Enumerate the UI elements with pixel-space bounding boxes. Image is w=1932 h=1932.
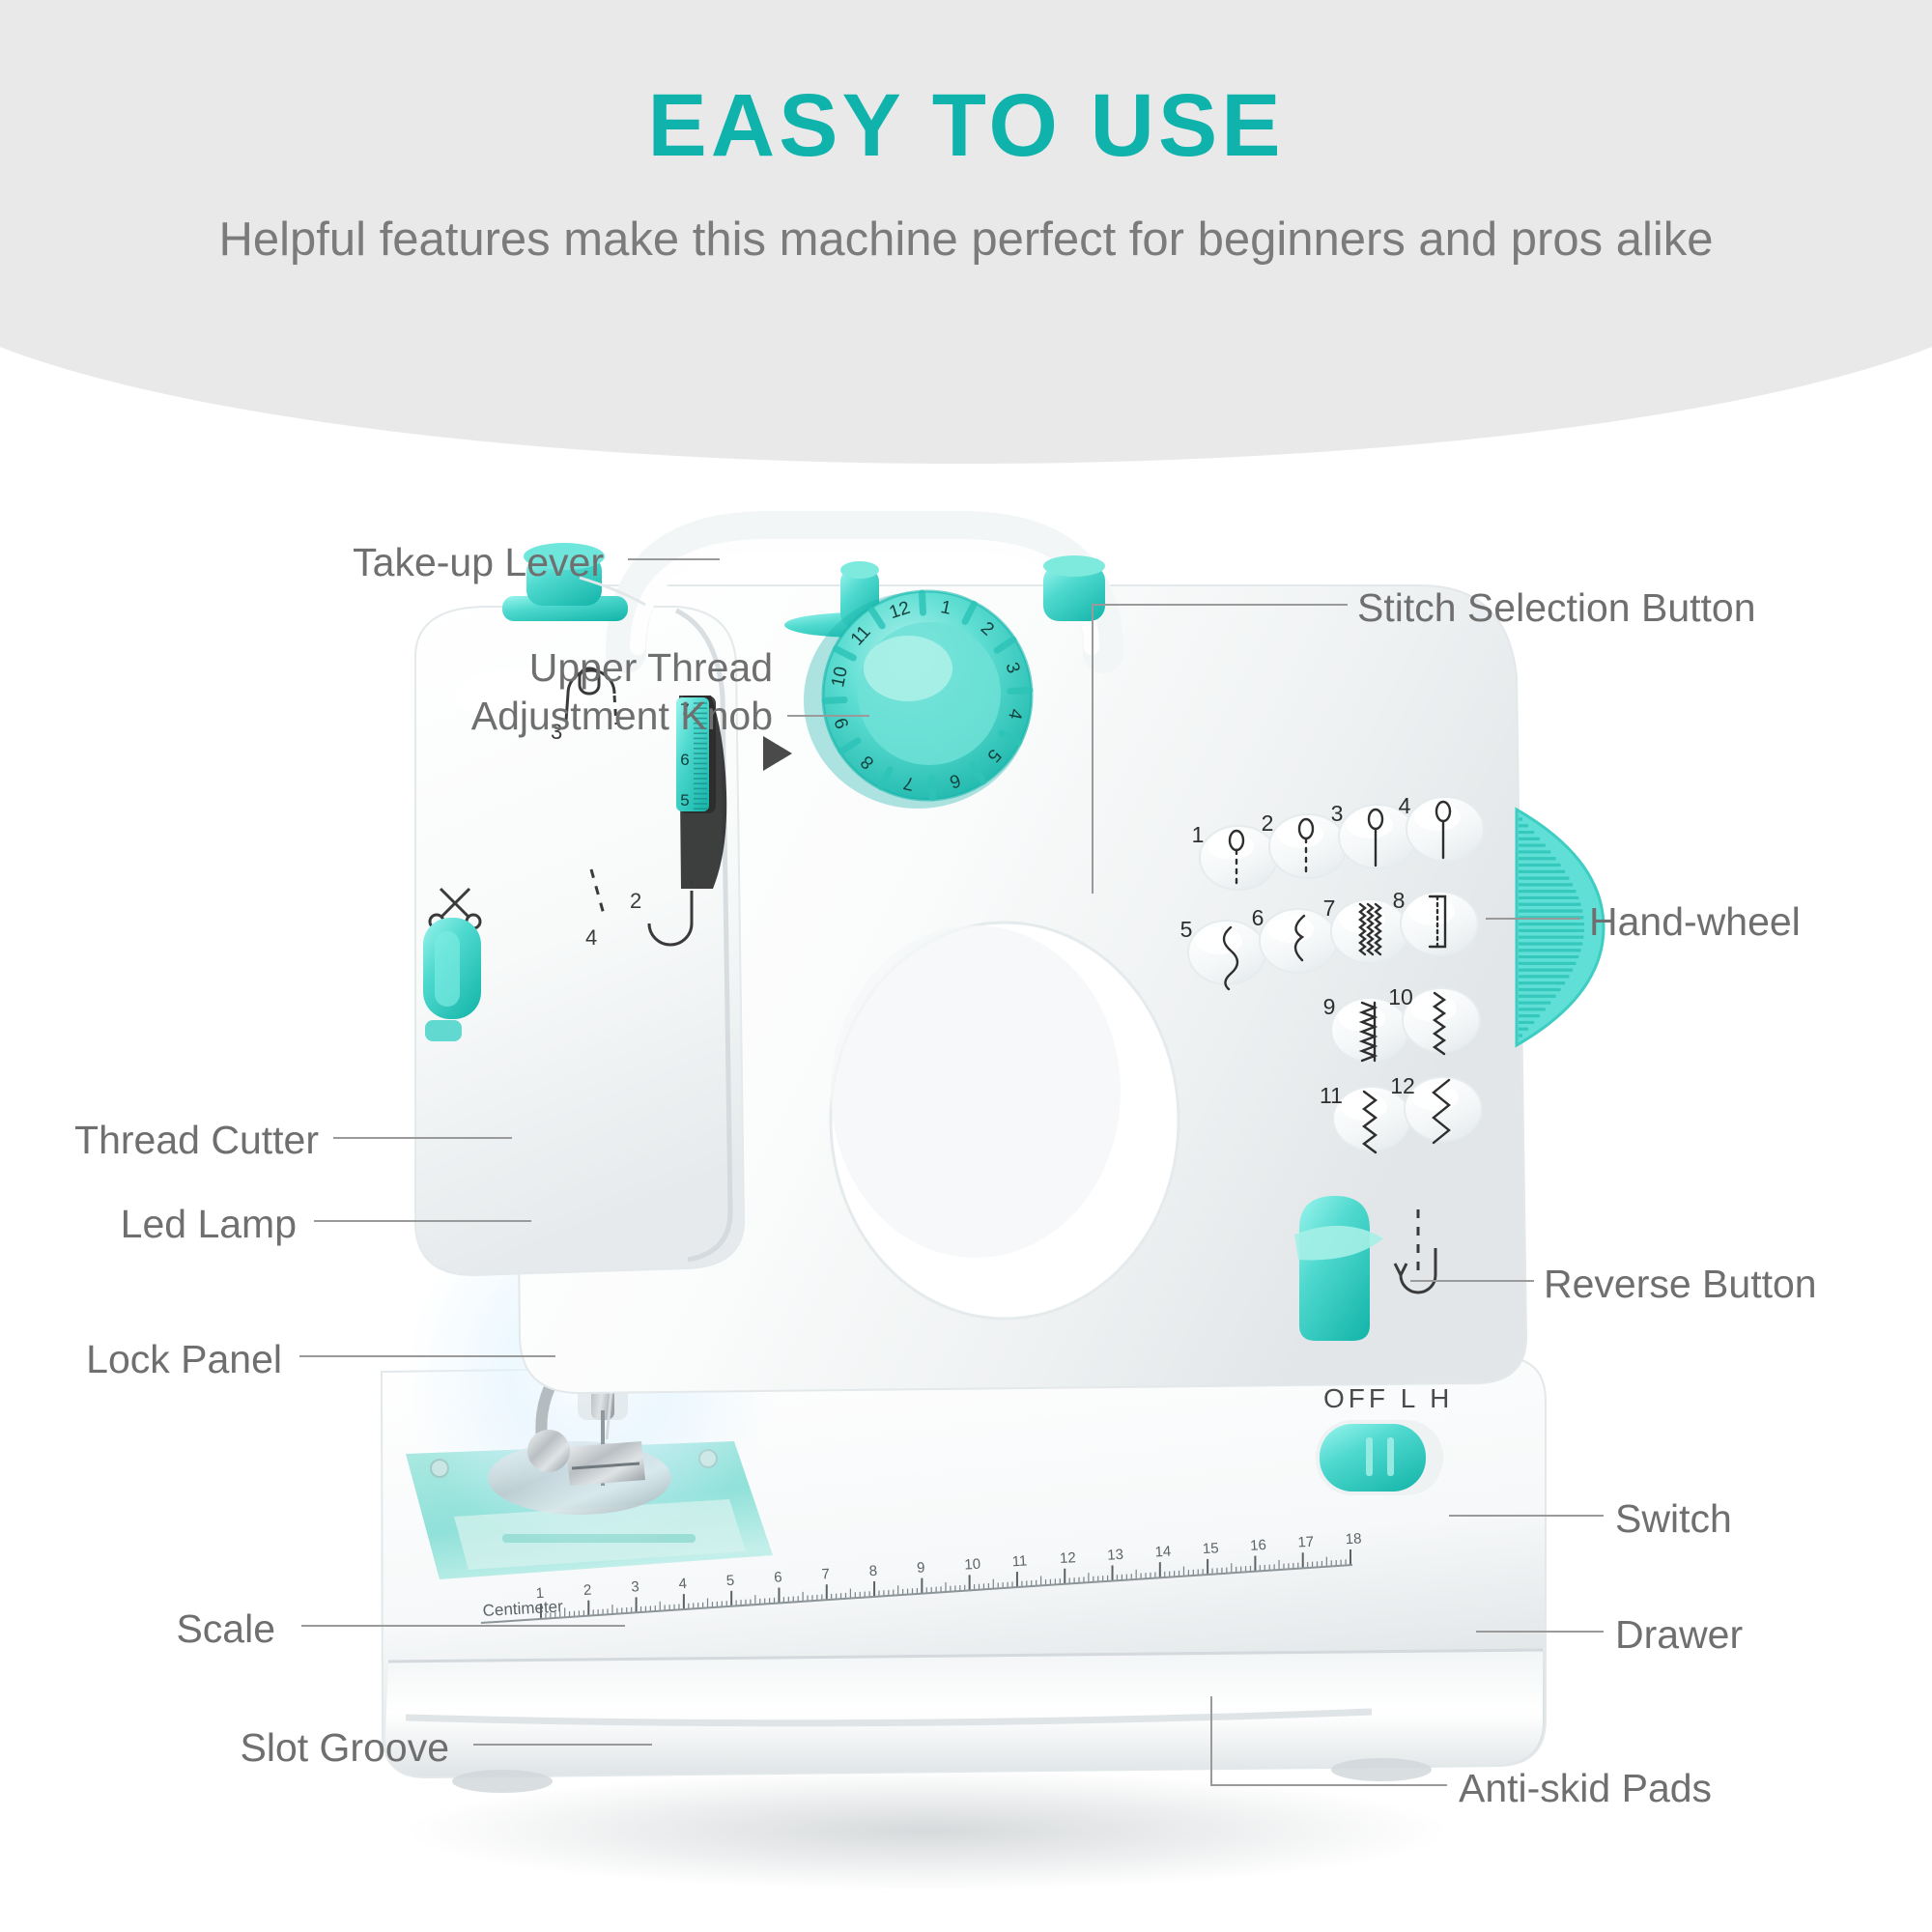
svg-text:11: 11 [1011, 1552, 1028, 1570]
page-subtitle: Helpful features make this machine perfe… [0, 209, 1932, 271]
leader-stitch-selection-h [1092, 604, 1348, 606]
svg-text:2: 2 [630, 889, 641, 913]
leader-lock-panel [299, 1355, 555, 1357]
svg-text:10: 10 [1388, 984, 1413, 1009]
callout-scale: Scale [176, 1605, 275, 1653]
svg-text:3: 3 [631, 1578, 639, 1595]
svg-text:6: 6 [774, 1569, 782, 1585]
svg-text:2: 2 [1262, 810, 1274, 836]
callout-led-lamp: Led Lamp [121, 1200, 297, 1248]
leader-stitch-selection-v [1092, 604, 1094, 894]
svg-text:8: 8 [1393, 888, 1406, 913]
svg-text:7: 7 [821, 1566, 830, 1582]
leader-upper-thread-knob [787, 715, 869, 717]
leader-led-lamp [314, 1220, 531, 1222]
svg-text:11: 11 [1320, 1083, 1343, 1108]
svg-text:16: 16 [1250, 1537, 1267, 1554]
svg-text:8: 8 [868, 1563, 877, 1579]
callout-thread-cutter: Thread Cutter [74, 1116, 319, 1164]
callout-anti-skid-pads: Anti-skid Pads [1459, 1764, 1712, 1812]
callout-switch: Switch [1615, 1494, 1732, 1543]
svg-text:12: 12 [1060, 1549, 1077, 1567]
leader-anti-skid-h [1210, 1784, 1447, 1786]
svg-text:4: 4 [1399, 793, 1411, 818]
anti-skid-pad-right [1331, 1758, 1432, 1781]
svg-text:3: 3 [1331, 801, 1344, 826]
page-title: EASY TO USE [0, 81, 1932, 170]
callout-reverse-button: Reverse Button [1544, 1260, 1817, 1308]
callout-hand-wheel: Hand-wheel [1589, 897, 1801, 946]
svg-text:14: 14 [1154, 1544, 1172, 1561]
leader-thread-cutter [333, 1137, 512, 1139]
svg-text:5: 5 [725, 1573, 734, 1589]
svg-text:17: 17 [1297, 1534, 1315, 1551]
leader-reverse-button [1410, 1280, 1534, 1282]
ground-shadow [406, 1771, 1449, 1890]
header-text-block: EASY TO USE Helpful features make this m… [0, 0, 1932, 271]
product-photo: Centimeter 123456789101112131415161718 [0, 406, 1932, 1932]
svg-text:5: 5 [1180, 917, 1193, 942]
callout-slot-groove: Slot Groove [241, 1723, 450, 1772]
bobbin-winder[interactable] [1043, 555, 1105, 621]
anti-skid-pad-left [452, 1770, 553, 1793]
svg-text:4: 4 [585, 925, 597, 950]
callout-stitch-selection-button: Stitch Selection Button [1357, 583, 1756, 632]
leader-slot-groove [473, 1744, 652, 1746]
svg-text:10: 10 [964, 1556, 981, 1574]
svg-text:18: 18 [1345, 1530, 1362, 1548]
svg-text:12: 12 [1390, 1073, 1415, 1098]
svg-text:10: 10 [828, 665, 852, 689]
svg-text:5: 5 [680, 791, 689, 810]
svg-text:9: 9 [1323, 994, 1336, 1019]
callout-lock-panel: Lock Panel [86, 1335, 282, 1383]
svg-text:1: 1 [535, 1585, 544, 1602]
svg-text:13: 13 [1107, 1547, 1124, 1564]
leader-take-up-lever [628, 558, 720, 560]
leader-drawer [1476, 1631, 1604, 1633]
svg-text:15: 15 [1202, 1540, 1219, 1557]
svg-text:6: 6 [680, 751, 689, 769]
callout-take-up-lever: Take-up Lever [353, 538, 604, 586]
power-switch[interactable]: OFF L H [1316, 1383, 1453, 1495]
infographic-canvas: EASY TO USE Helpful features make this m… [0, 0, 1932, 1932]
power-switch-labels: OFF L H [1323, 1383, 1453, 1413]
svg-text:2: 2 [583, 1582, 592, 1599]
svg-text:1: 1 [1192, 822, 1205, 847]
callout-drawer: Drawer [1615, 1610, 1743, 1659]
stitch-selection-dial[interactable]: 123456789101112 [804, 591, 1032, 809]
svg-text:7: 7 [1323, 895, 1336, 921]
svg-text:4: 4 [678, 1576, 687, 1592]
svg-text:9: 9 [917, 1559, 925, 1576]
leader-switch [1449, 1515, 1604, 1517]
svg-text:6: 6 [1252, 905, 1264, 930]
leader-anti-skid-v [1210, 1696, 1212, 1786]
leader-hand-wheel [1486, 918, 1580, 920]
callout-upper-thread-knob: Upper Thread Adjustment Knob [471, 643, 773, 740]
leader-scale [301, 1625, 625, 1627]
